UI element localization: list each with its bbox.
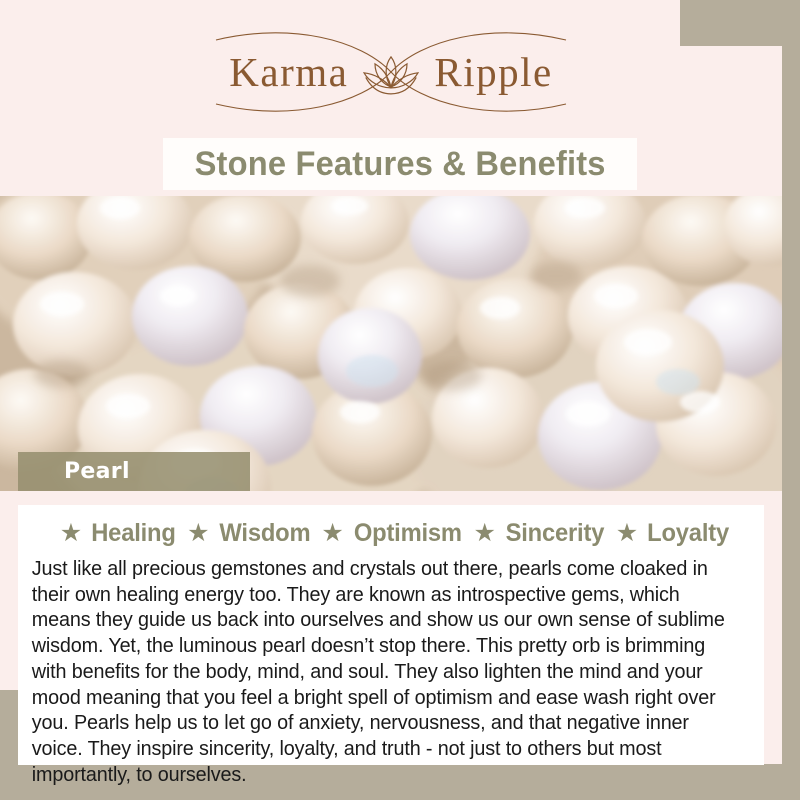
star-icon: ★ <box>616 521 638 546</box>
stone-name: Pearl <box>18 459 130 484</box>
star-icon: ★ <box>473 521 495 546</box>
keyword-label: Loyalty <box>647 519 729 548</box>
keyword-label: Wisdom <box>219 519 310 548</box>
page-title: Stone Features & Benefits <box>194 145 605 184</box>
benefit-keywords: ★ Healing ★ Wisdom ★ Optimism ★ Sincerit… <box>18 505 764 555</box>
brand-name-right: Ripple <box>434 52 552 93</box>
brand-logo: Karma Ripple <box>0 26 782 118</box>
keyword-label: Optimism <box>354 519 462 548</box>
keyword-label: Healing <box>91 519 175 548</box>
pearl-photo <box>0 196 782 491</box>
keyword-item: ★ Healing <box>51 519 178 548</box>
pearl-photo-image <box>0 196 782 491</box>
frame-edge-right <box>782 0 800 800</box>
keyword-label: Sincerity <box>505 519 604 548</box>
star-icon: ★ <box>60 521 82 546</box>
photo-separator <box>0 491 782 505</box>
star-icon: ★ <box>321 521 343 546</box>
brand-name-left: Karma <box>229 52 348 93</box>
section-title-banner: Stone Features & Benefits <box>163 138 637 190</box>
content-panel: ★ Healing ★ Wisdom ★ Optimism ★ Sincerit… <box>18 505 764 765</box>
stone-description: Just like all precious gemstones and cry… <box>18 555 753 788</box>
lotus-icon <box>358 51 424 97</box>
keyword-item: ★ Wisdom <box>178 519 312 548</box>
keyword-item: ★ Loyalty <box>607 519 732 548</box>
stone-name-badge: Pearl <box>18 452 250 491</box>
star-icon: ★ <box>187 521 209 546</box>
keyword-item: ★ Sincerity <box>464 519 606 548</box>
infographic-poster: Karma Ripple Stone Features & Benefits <box>0 0 800 800</box>
keyword-item: ★ Optimism <box>312 519 464 548</box>
